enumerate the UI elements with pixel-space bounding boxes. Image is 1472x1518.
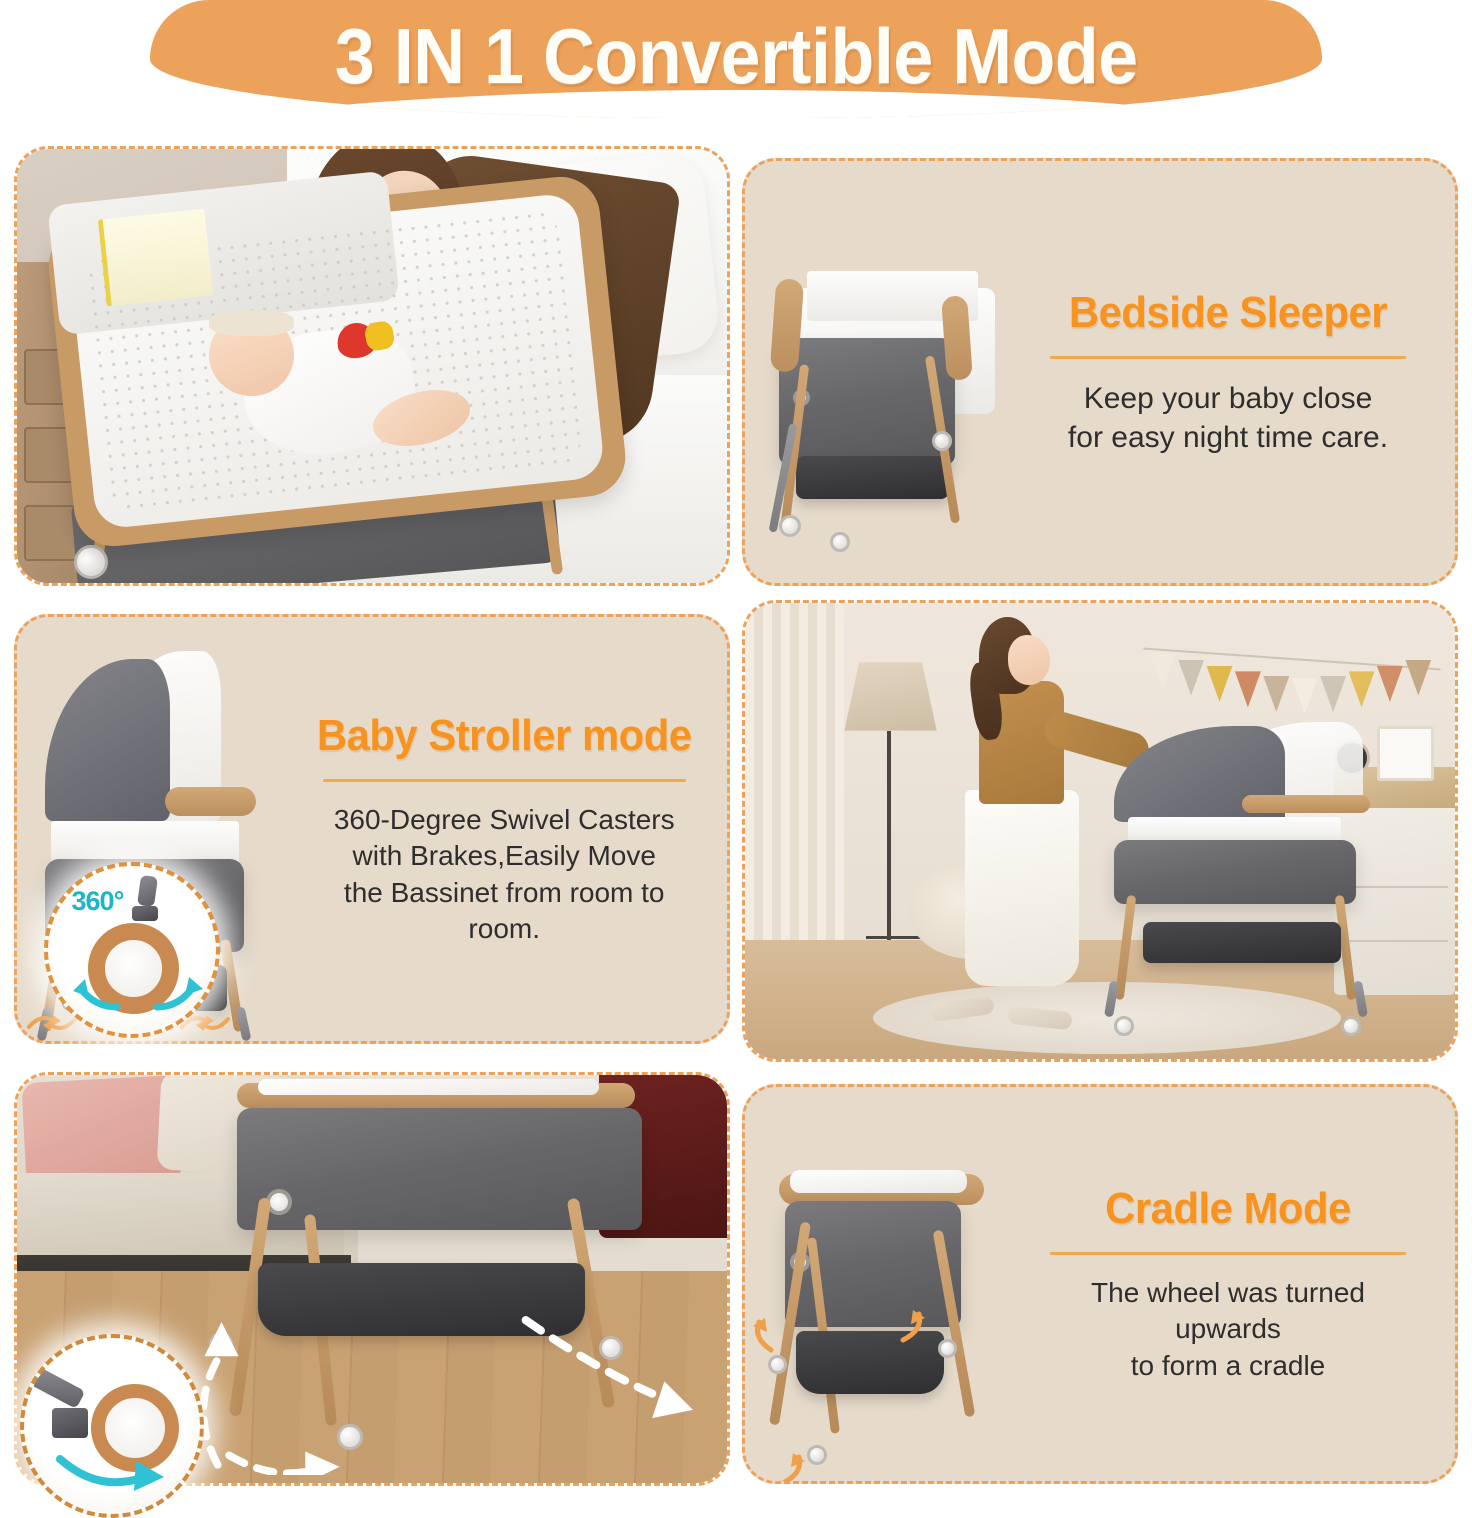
panel-bedside-sleeper: Bedside Sleeper Keep your baby close for… bbox=[742, 158, 1458, 586]
page-title: 3 IN 1 Convertible Mode bbox=[335, 11, 1138, 102]
mode-desc-line: the Bassinet from room to room. bbox=[307, 875, 701, 948]
mode-desc-line: The wheel was turned upwards bbox=[1035, 1275, 1421, 1348]
rotation-arrow-icon bbox=[52, 1447, 172, 1493]
photo-stroller-mode bbox=[745, 603, 1455, 1059]
title-divider bbox=[1050, 1252, 1405, 1255]
mode-title-baby-stroller: Baby Stroller mode bbox=[317, 711, 692, 761]
mode-desc-line: Keep your baby close bbox=[1035, 379, 1421, 418]
figure-bassinet-cradle bbox=[745, 1087, 1029, 1481]
mode-desc-line: with Brakes,Easily Move bbox=[307, 838, 701, 874]
mode-desc-line: to form a cradle bbox=[1035, 1348, 1421, 1384]
swivel-caster-callout: 360° bbox=[44, 862, 220, 1038]
mode-title-cradle: Cradle Mode bbox=[1045, 1184, 1412, 1234]
figure-bassinet-bedside bbox=[745, 161, 1029, 583]
title-divider bbox=[1050, 356, 1405, 359]
photo-bedside-sleeper bbox=[17, 149, 727, 583]
panel-cradle-mode: Cradle Mode The wheel was turned upwards… bbox=[742, 1084, 1458, 1484]
rotation-arrow-icon bbox=[65, 973, 209, 1017]
callout-360-label: 360° bbox=[72, 886, 124, 917]
mode-desc-line: for easy night time care. bbox=[1035, 418, 1421, 457]
wheel-up-arrow-icon bbox=[745, 1316, 783, 1356]
page-header-banner: 3 IN 1 Convertible Mode bbox=[150, 0, 1322, 118]
panel-stroller-mode-photo bbox=[742, 600, 1458, 1062]
wheel-up-arrow-icon bbox=[773, 1451, 813, 1484]
caster-rotate-callout bbox=[20, 1334, 204, 1518]
mode-desc-line: 360-Degree Swivel Casters bbox=[307, 802, 701, 838]
wheel-up-arrow-icon bbox=[893, 1308, 933, 1346]
motion-arrow-right-icon bbox=[514, 1312, 713, 1434]
panel-bedside-sleeper-photo bbox=[14, 146, 730, 586]
title-divider bbox=[323, 779, 686, 782]
mode-title-bedside-sleeper: Bedside Sleeper bbox=[1045, 288, 1412, 338]
